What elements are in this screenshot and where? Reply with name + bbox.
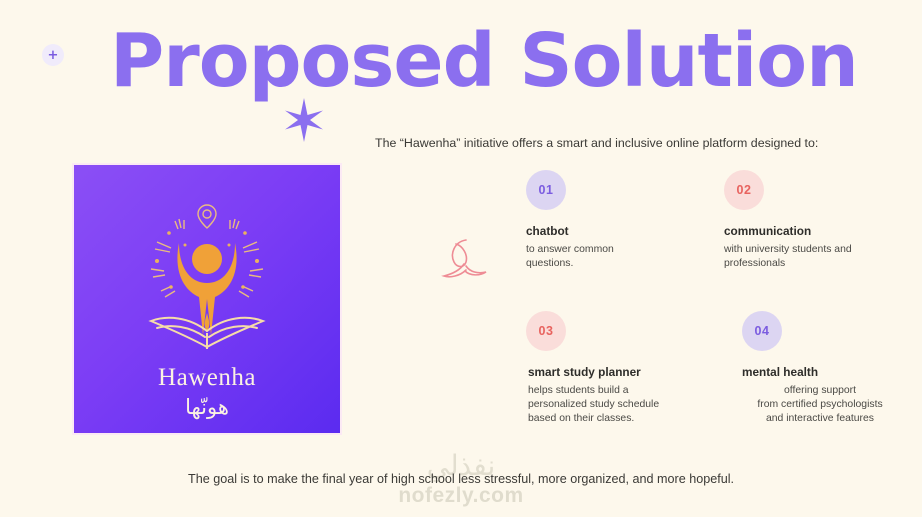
feature-heading: mental health [742, 365, 920, 379]
feature-number-badge: 04 [742, 311, 782, 351]
feature-row-2: 03 smart study planner helps students bu… [520, 311, 920, 426]
intro-text: The “Hawenha” initiative offers a smart … [375, 136, 818, 150]
goal-text: The goal is to make the final year of hi… [188, 472, 734, 486]
logo-card: Hawenha هونّها [72, 163, 342, 435]
feature-description: offering supportfrom certified psycholog… [720, 384, 920, 426]
logo-name-latin: Hawenha [158, 364, 256, 392]
feature-description: helps students build apersonalized study… [528, 384, 720, 426]
feature-description: to answer commonquestions. [526, 243, 720, 271]
feature-number-badge: 03 [526, 311, 566, 351]
feature-item-chatbot[interactable]: 01 chatbot to answer commonquestions. [520, 170, 720, 271]
feature-grid: 01 chatbot to answer commonquestions. 02… [520, 170, 920, 426]
feature-item-communication[interactable]: 02 communication with university student… [720, 170, 920, 271]
feature-heading: smart study planner [528, 365, 720, 379]
feature-item-smart-study-planner[interactable]: 03 smart study planner helps students bu… [520, 311, 720, 426]
plus-badge[interactable]: + [42, 44, 64, 66]
logo-name-arabic: هونّها [185, 395, 229, 419]
feature-number-badge: 01 [526, 170, 566, 210]
feature-heading: chatbot [526, 224, 720, 238]
feature-description: with university students andprofessional… [724, 243, 920, 271]
feature-heading: communication [724, 224, 920, 238]
slide-canvas: + Proposed Solution [0, 0, 922, 517]
feature-row-1: 01 chatbot to answer commonquestions. 02… [520, 170, 920, 271]
pink-ribbon-squiggle-icon [436, 232, 492, 290]
page-title: Proposed Solution [110, 24, 858, 98]
feature-number-badge: 02 [724, 170, 764, 210]
feature-item-mental-health[interactable]: 04 mental health offering supportfrom ce… [720, 311, 920, 426]
watermark-site: nofezly.com [0, 484, 922, 508]
plus-icon: + [48, 49, 59, 62]
person-rising-over-book-icon [127, 187, 287, 362]
sparkle-star-icon [281, 98, 327, 142]
